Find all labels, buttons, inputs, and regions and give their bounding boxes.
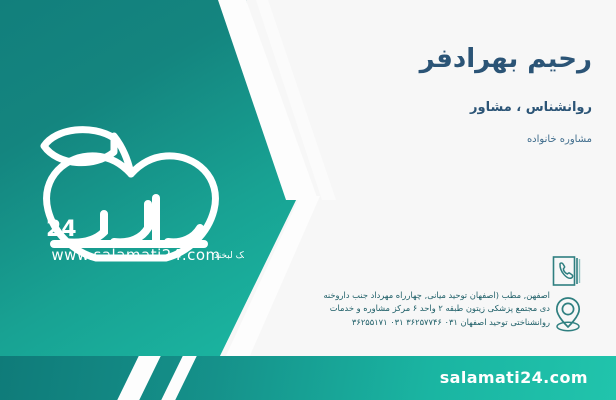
person-role: روانشناس ، مشاور (470, 100, 592, 115)
person-name: رحیم بهرادفر (420, 44, 592, 74)
footer-bar: salamati24.com (0, 356, 616, 400)
address-line-2: دی مجتمع پزشکی زیتون طبقه ۲ واحد ۶ مرکز … (278, 302, 550, 315)
logo-badge-24: 24 (46, 217, 77, 242)
footer-site[interactable]: salamati24.com (440, 368, 588, 387)
phonebook-icon (552, 255, 582, 287)
svg-text:24: 24 (46, 217, 77, 242)
footer-stripe-2 (158, 356, 199, 400)
map-pin-icon (552, 294, 584, 334)
person-specialty: مشاوره خانواده (527, 134, 592, 145)
address-line-1: اصفهن, مطب (اصفهان توحید میانی, چهارراه … (278, 289, 550, 302)
contact-block: اصفهن, مطب (اصفهان توحید میانی, چهارراه … (278, 289, 550, 329)
footer-stripe-1 (114, 356, 163, 400)
address-line-3: روانشناختی توحید اصفهان ۰۳۱ ۳۶۲۵۷۷۴۶ ۰۳۱… (278, 316, 550, 329)
logo-url: www.salamati24.com (46, 246, 226, 264)
business-card: 24 براحتی یک لبخند www.salamati24.com رح… (0, 0, 616, 400)
